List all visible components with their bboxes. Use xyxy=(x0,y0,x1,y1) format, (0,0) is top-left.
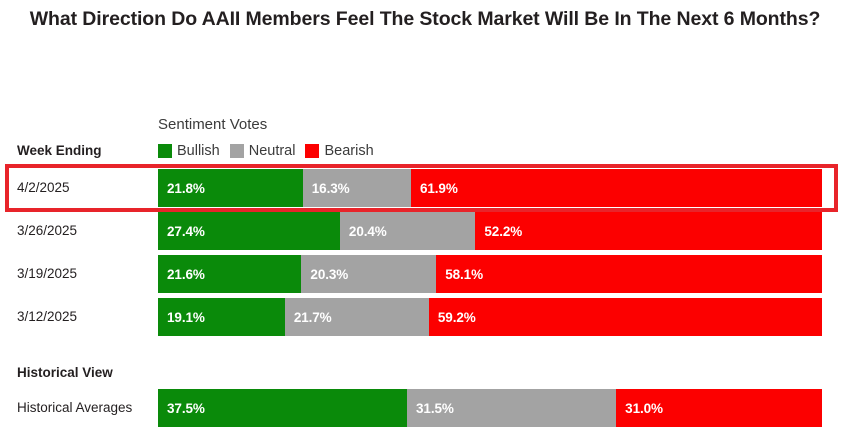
stacked-bar: 27.4%20.4%52.2% xyxy=(158,212,822,250)
sentiment-votes-heading: Sentiment Votes xyxy=(158,116,267,133)
neutral-value: 20.3% xyxy=(310,267,348,282)
bar-segment-neutral: 31.5% xyxy=(407,389,616,427)
neutral-value: 20.4% xyxy=(349,224,387,239)
neutral-swatch-icon xyxy=(230,144,244,158)
bearish-swatch-icon xyxy=(305,144,319,158)
legend: Bullish Neutral Bearish xyxy=(158,143,384,159)
bullish-value: 21.6% xyxy=(167,267,205,282)
bearish-value: 52.2% xyxy=(484,224,522,239)
table-row: 3/26/202527.4%20.4%52.2% xyxy=(0,212,850,250)
historical-view-heading: Historical View xyxy=(17,365,113,380)
bar-segment-neutral: 20.4% xyxy=(340,212,475,250)
week-ending-column-header: Week Ending xyxy=(17,143,102,158)
table-row: 4/2/202521.8%16.3%61.9% xyxy=(0,169,850,207)
bullish-value: 37.5% xyxy=(167,401,205,416)
stacked-bar: 21.8%16.3%61.9% xyxy=(158,169,822,207)
bullish-swatch-icon xyxy=(158,144,172,158)
bar-segment-neutral: 20.3% xyxy=(301,255,436,293)
legend-label-neutral: Neutral xyxy=(249,143,296,159)
bullish-value: 27.4% xyxy=(167,224,205,239)
bar-segment-neutral: 21.7% xyxy=(285,298,429,336)
bar-segment-bullish: 19.1% xyxy=(158,298,285,336)
page-title: What Direction Do AAII Members Feel The … xyxy=(0,6,850,32)
table-row: Historical Averages37.5%31.5%31.0% xyxy=(0,389,850,427)
bar-segment-neutral: 16.3% xyxy=(303,169,411,207)
bar-segment-bullish: 37.5% xyxy=(158,389,407,427)
row-label: Historical Averages xyxy=(17,389,132,427)
bar-segment-bearish: 58.1% xyxy=(436,255,822,293)
bearish-value: 61.9% xyxy=(420,181,458,196)
bar-segment-bearish: 52.2% xyxy=(475,212,822,250)
table-row: 3/19/202521.6%20.3%58.1% xyxy=(0,255,850,293)
legend-label-bullish: Bullish xyxy=(177,143,220,159)
bar-segment-bearish: 61.9% xyxy=(411,169,822,207)
neutral-value: 21.7% xyxy=(294,310,332,325)
neutral-value: 31.5% xyxy=(416,401,454,416)
stacked-bar: 21.6%20.3%58.1% xyxy=(158,255,822,293)
bar-segment-bullish: 21.8% xyxy=(158,169,303,207)
bar-segment-bearish: 59.2% xyxy=(429,298,822,336)
bullish-value: 21.8% xyxy=(167,181,205,196)
bar-segment-bullish: 27.4% xyxy=(158,212,340,250)
stacked-bar: 19.1%21.7%59.2% xyxy=(158,298,822,336)
bar-segment-bearish: 31.0% xyxy=(616,389,822,427)
neutral-value: 16.3% xyxy=(312,181,350,196)
table-row: 3/12/202519.1%21.7%59.2% xyxy=(0,298,850,336)
row-label: 3/26/2025 xyxy=(17,212,77,250)
bar-segment-bullish: 21.6% xyxy=(158,255,301,293)
stacked-bar: 37.5%31.5%31.0% xyxy=(158,389,822,427)
legend-item-bullish: Bullish xyxy=(158,143,220,159)
legend-label-bearish: Bearish xyxy=(324,143,373,159)
legend-item-bearish: Bearish xyxy=(305,143,373,159)
bearish-value: 59.2% xyxy=(438,310,476,325)
bearish-value: 58.1% xyxy=(445,267,483,282)
bullish-value: 19.1% xyxy=(167,310,205,325)
row-label: 4/2/2025 xyxy=(17,169,70,207)
row-label: 3/12/2025 xyxy=(17,298,77,336)
row-label: 3/19/2025 xyxy=(17,255,77,293)
legend-item-neutral: Neutral xyxy=(230,143,296,159)
bearish-value: 31.0% xyxy=(625,401,663,416)
